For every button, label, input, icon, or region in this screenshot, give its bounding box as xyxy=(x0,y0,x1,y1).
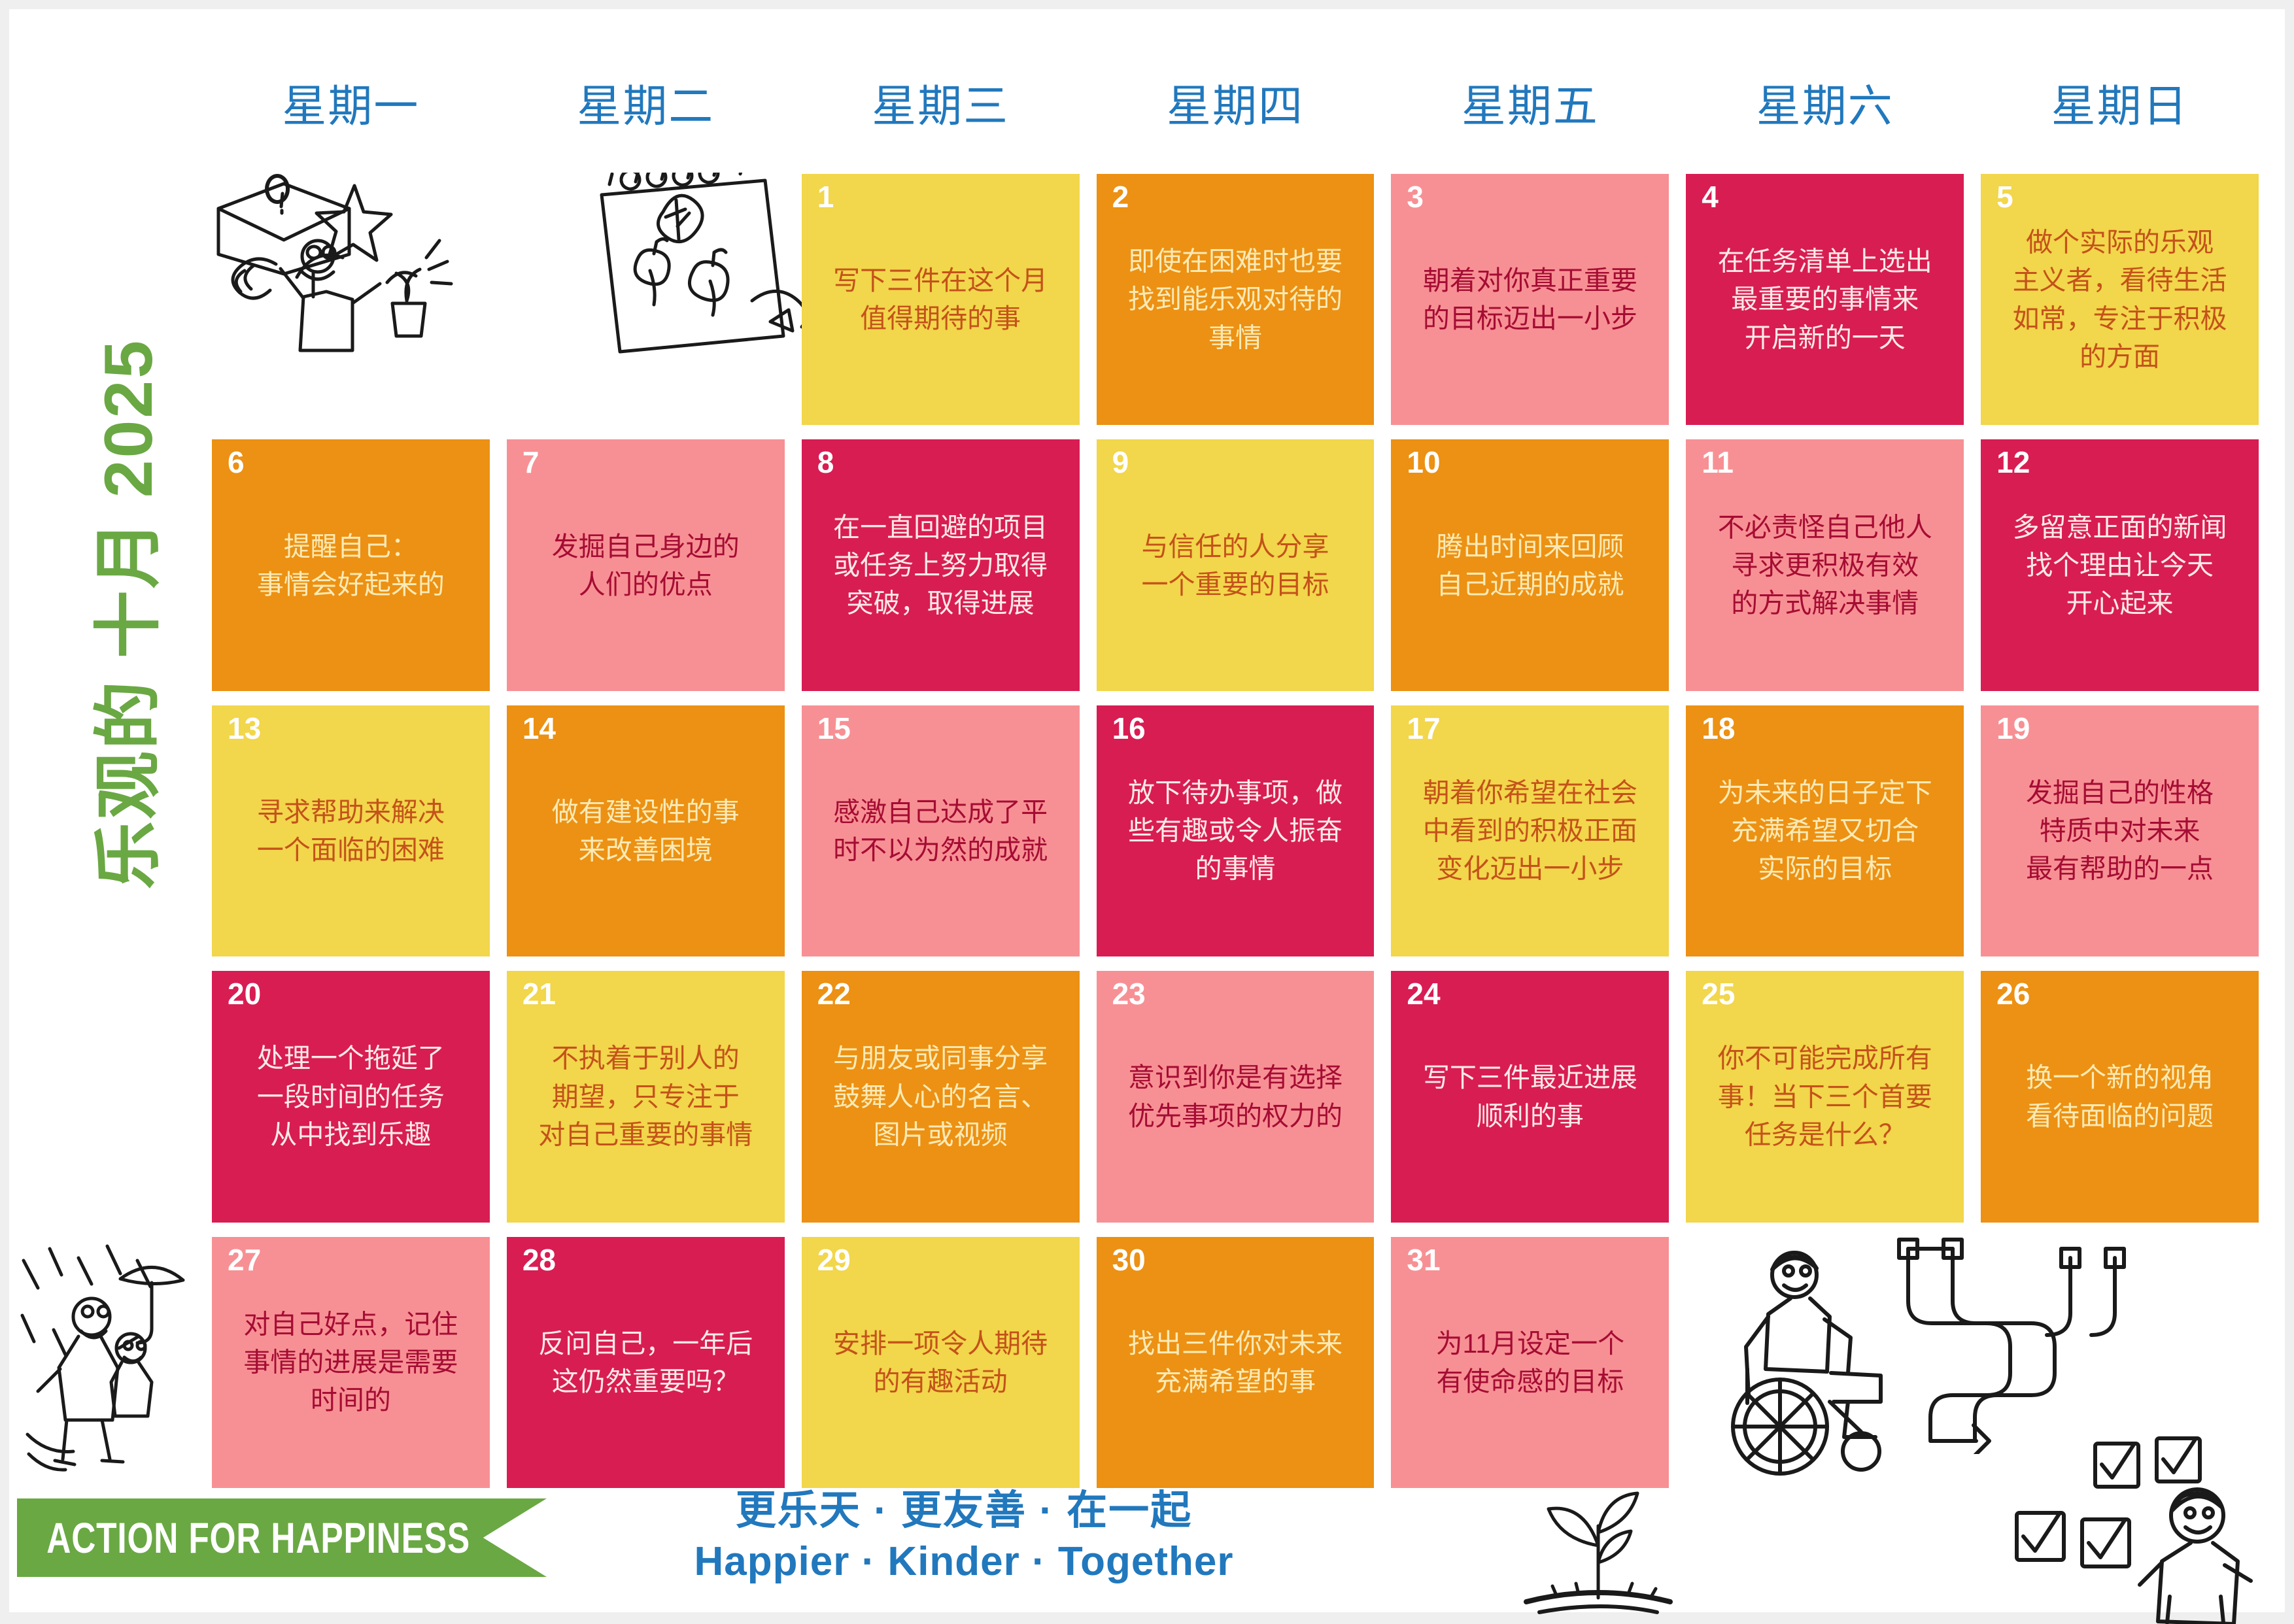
weekday-header-saturday: 星期六 xyxy=(1686,68,1964,137)
day-action-text: 不必责怪自己他人 寻求更积极有效 的方式解决事情 xyxy=(1686,508,1964,622)
day-action-text: 换一个新的视角 看待面临的问题 xyxy=(1981,1058,2259,1134)
day-action-text: 在一直回避的项目 或任务上努力取得 突破，取得进展 xyxy=(802,508,1080,622)
day-number: 19 xyxy=(1996,712,2030,745)
day-action-text: 处理一个拖延了 一段时间的任务 从中找到乐趣 xyxy=(212,1040,490,1154)
day-number: 27 xyxy=(228,1243,261,1277)
day-number: 28 xyxy=(522,1243,556,1277)
weekday-header-sunday: 星期日 xyxy=(1981,68,2259,137)
day-number: 2 xyxy=(1112,180,1129,214)
day-number: 7 xyxy=(522,446,539,479)
day-number: 3 xyxy=(1407,180,1424,214)
weekday-header-friday: 星期五 xyxy=(1391,68,1669,137)
weekday-header-tuesday: 星期二 xyxy=(507,68,785,137)
day-number: 29 xyxy=(817,1243,851,1277)
page-title: 乐观的 十月 2025 xyxy=(79,326,164,902)
day-number: 25 xyxy=(1702,977,1735,1011)
calendar-cell-empty xyxy=(507,174,785,425)
ribbon-label: ACTION FOR HAPPINESS xyxy=(17,1513,470,1563)
day-action-text: 与信任的人分享 一个重要的目标 xyxy=(1097,527,1375,603)
calendar-cell-day-7[interactable]: 7发掘自己身边的 人们的优点 xyxy=(507,439,785,690)
day-action-text: 你不可能完成所有 事！当下三个首要 任务是什么？ xyxy=(1686,1040,1964,1154)
day-number: 13 xyxy=(228,712,261,745)
day-number: 4 xyxy=(1702,180,1719,214)
weekday-header-thursday: 星期四 xyxy=(1097,68,1375,137)
action-for-happiness-logo[interactable]: ACTION FOR HAPPINESS xyxy=(17,1498,547,1577)
calendar-cell-day-31[interactable]: 31为11月设定一个 有使命感的目标 xyxy=(1391,1237,1669,1488)
calendar-cell-day-28[interactable]: 28反问自己，一年后 这仍然重要吗？ xyxy=(507,1237,785,1488)
day-action-text: 为未来的日子定下 充满希望又切合 实际的目标 xyxy=(1686,774,1964,888)
day-number: 6 xyxy=(228,446,245,479)
day-action-text: 写下三件最近进展 顺利的事 xyxy=(1391,1058,1669,1134)
day-action-text: 安排一项令人期待 的有趣活动 xyxy=(802,1325,1080,1400)
calendar-cell-day-10[interactable]: 10腾出时间来回顾 自己近期的成就 xyxy=(1391,439,1669,690)
calendar-cell-day-26[interactable]: 26换一个新的视角 看待面临的问题 xyxy=(1981,971,2259,1222)
calendar-cell-day-22[interactable]: 22与朋友或同事分享 鼓舞人心的名言、 图片或视频 xyxy=(802,971,1080,1222)
day-action-text: 写下三件在这个月 值得期待的事 xyxy=(802,262,1080,337)
day-number: 14 xyxy=(522,712,556,745)
calendar-cell-empty xyxy=(212,174,490,425)
weekday-header-wednesday: 星期三 xyxy=(802,68,1080,137)
day-action-text: 找出三件你对未来 充满希望的事 xyxy=(1097,1325,1375,1400)
calendar-cell-day-4[interactable]: 4在任务清单上选出 最重要的事情来 开启新的一天 xyxy=(1686,174,1964,425)
day-action-text: 对自己好点，记住 事情的进展是需要 时间的 xyxy=(212,1305,490,1419)
calendar-cell-day-14[interactable]: 14做有建设性的事 来改善困境 xyxy=(507,705,785,956)
day-number: 26 xyxy=(1996,977,2030,1011)
calendar-cell-day-17[interactable]: 17朝着你希望在社会 中看到的积极正面 变化迈出一小步 xyxy=(1391,705,1669,956)
day-number: 18 xyxy=(1702,712,1735,745)
calendar-cell-day-13[interactable]: 13寻求帮助来解决 一个面临的困难 xyxy=(212,705,490,956)
day-action-text: 与朋友或同事分享 鼓舞人心的名言、 图片或视频 xyxy=(802,1040,1080,1154)
day-action-text: 反问自己，一年后 这仍然重要吗？ xyxy=(507,1325,785,1400)
calendar-cell-day-16[interactable]: 16放下待办事项，做 些有趣或令人振奋 的事情 xyxy=(1097,705,1375,956)
day-action-text: 腾出时间来回顾 自己近期的成就 xyxy=(1391,527,1669,603)
tagline-block: 更乐天 · 更友善 · 在一起 Happier · Kinder · Toget… xyxy=(598,1485,1330,1587)
day-action-text: 不执着于别人的 期望，只专注于 对自己重要的事情 xyxy=(507,1040,785,1154)
day-number: 21 xyxy=(522,977,556,1011)
calendar-cell-day-11[interactable]: 11不必责怪自己他人 寻求更积极有效 的方式解决事情 xyxy=(1686,439,1964,690)
day-number: 24 xyxy=(1407,977,1440,1011)
calendar-cell-day-8[interactable]: 8在一直回避的项目 或任务上努力取得 突破，取得进展 xyxy=(802,439,1080,690)
day-action-text: 为11月设定一个 有使命感的目标 xyxy=(1391,1325,1669,1400)
day-number: 30 xyxy=(1112,1243,1146,1277)
footer: ACTION FOR HAPPINESS 更乐天 · 更友善 · 在一起 Hap… xyxy=(9,1481,2285,1612)
day-action-text: 意识到你是有选择 优先事项的权力的 xyxy=(1097,1058,1375,1134)
day-number: 17 xyxy=(1407,712,1440,745)
day-action-text: 朝着你希望在社会 中看到的积极正面 变化迈出一小步 xyxy=(1391,774,1669,888)
calendar-cell-day-15[interactable]: 15感激自己达成了平 时不以为然的成就 xyxy=(802,705,1080,956)
day-number: 11 xyxy=(1702,446,1734,479)
calendar-cell-day-20[interactable]: 20处理一个拖延了 一段时间的任务 从中找到乐趣 xyxy=(212,971,490,1222)
day-number: 9 xyxy=(1112,446,1129,479)
calendar-cell-day-9[interactable]: 9与信任的人分享 一个重要的目标 xyxy=(1097,439,1375,690)
calendar-cell-day-18[interactable]: 18为未来的日子定下 充满希望又切合 实际的目标 xyxy=(1686,705,1964,956)
day-action-text: 即使在困难时也要 找到能乐观对待的 事情 xyxy=(1097,243,1375,357)
calendar-cell-day-21[interactable]: 21不执着于别人的 期望，只专注于 对自己重要的事情 xyxy=(507,971,785,1222)
calendar-cell-day-25[interactable]: 25你不可能完成所有 事！当下三个首要 任务是什么？ xyxy=(1686,971,1964,1222)
calendar-cell-day-6[interactable]: 6提醒自己： 事情会好起来的 xyxy=(212,439,490,690)
day-action-text: 做有建设性的事 来改善困境 xyxy=(507,793,785,869)
day-number: 5 xyxy=(1996,180,2013,214)
day-number: 10 xyxy=(1407,446,1440,479)
calendar-page: 星期一 星期二 星期三 星期四 星期五 星期六 星期日 乐观的 十月 2025 xyxy=(9,9,2285,1612)
tagline-english: Happier · Kinder · Together xyxy=(598,1536,1330,1587)
day-action-text: 提醒自己： 事情会好起来的 xyxy=(212,527,490,603)
calendar-cell-empty xyxy=(1686,1237,1964,1488)
calendar-cell-day-29[interactable]: 29安排一项令人期待 的有趣活动 xyxy=(802,1237,1080,1488)
day-number: 15 xyxy=(817,712,851,745)
calendar-cell-day-12[interactable]: 12多留意正面的新闻 找个理由让今天 开心起来 xyxy=(1981,439,2259,690)
day-number: 8 xyxy=(817,446,834,479)
day-action-text: 发掘自己身边的 人们的优点 xyxy=(507,527,785,603)
day-number: 12 xyxy=(1996,446,2030,479)
day-number: 23 xyxy=(1112,977,1146,1011)
calendar-cell-empty xyxy=(1981,1237,2259,1488)
calendar-cell-day-2[interactable]: 2即使在困难时也要 找到能乐观对待的 事情 xyxy=(1097,174,1375,425)
calendar-grid: 1写下三件在这个月 值得期待的事 2即使在困难时也要 找到能乐观对待的 事情 3… xyxy=(212,174,2259,1488)
day-action-text: 放下待办事项，做 些有趣或令人振奋 的事情 xyxy=(1097,774,1375,888)
calendar-cell-day-3[interactable]: 3朝着对你真正重要 的目标迈出一小步 xyxy=(1391,174,1669,425)
day-number: 16 xyxy=(1112,712,1146,745)
day-action-text: 感激自己达成了平 时不以为然的成就 xyxy=(802,793,1080,869)
day-action-text: 在任务清单上选出 最重要的事情来 开启新的一天 xyxy=(1686,243,1964,357)
calendar-cell-day-24[interactable]: 24写下三件最近进展 顺利的事 xyxy=(1391,971,1669,1222)
calendar-cell-day-23[interactable]: 23意识到你是有选择 优先事项的权力的 xyxy=(1097,971,1375,1222)
day-action-text: 发掘自己的性格 特质中对未来 最有帮助的一点 xyxy=(1981,774,2259,888)
calendar-cell-day-27[interactable]: 27对自己好点，记住 事情的进展是需要 时间的 xyxy=(212,1237,490,1488)
weekday-header-monday: 星期一 xyxy=(212,68,490,137)
day-number: 31 xyxy=(1407,1243,1440,1277)
day-number: 20 xyxy=(228,977,261,1011)
calendar-cell-day-30[interactable]: 30找出三件你对未来 充满希望的事 xyxy=(1097,1237,1375,1488)
day-number: 1 xyxy=(817,180,834,214)
day-action-text: 多留意正面的新闻 找个理由让今天 开心起来 xyxy=(1981,508,2259,622)
weekday-header-row: 星期一 星期二 星期三 星期四 星期五 星期六 星期日 xyxy=(212,68,2259,137)
umbrella-shelter-doodle xyxy=(16,1238,231,1487)
calendar-cell-day-19[interactable]: 19发掘自己的性格 特质中对未来 最有帮助的一点 xyxy=(1981,705,2259,956)
tagline-chinese: 更乐天 · 更友善 · 在一起 xyxy=(598,1485,1330,1536)
calendar-cell-day-1[interactable]: 1写下三件在这个月 值得期待的事 xyxy=(802,174,1080,425)
calendar-cell-day-5[interactable]: 5做个实际的乐观 主义者，看待生活 如常，专注于积极 的方面 xyxy=(1981,174,2259,425)
day-number: 22 xyxy=(817,977,851,1011)
day-action-text: 做个实际的乐观 主义者，看待生活 如常，专注于积极 的方面 xyxy=(1981,224,2259,376)
day-action-text: 朝着对你真正重要 的目标迈出一小步 xyxy=(1391,262,1669,337)
day-action-text: 寻求帮助来解决 一个面临的困难 xyxy=(212,793,490,869)
